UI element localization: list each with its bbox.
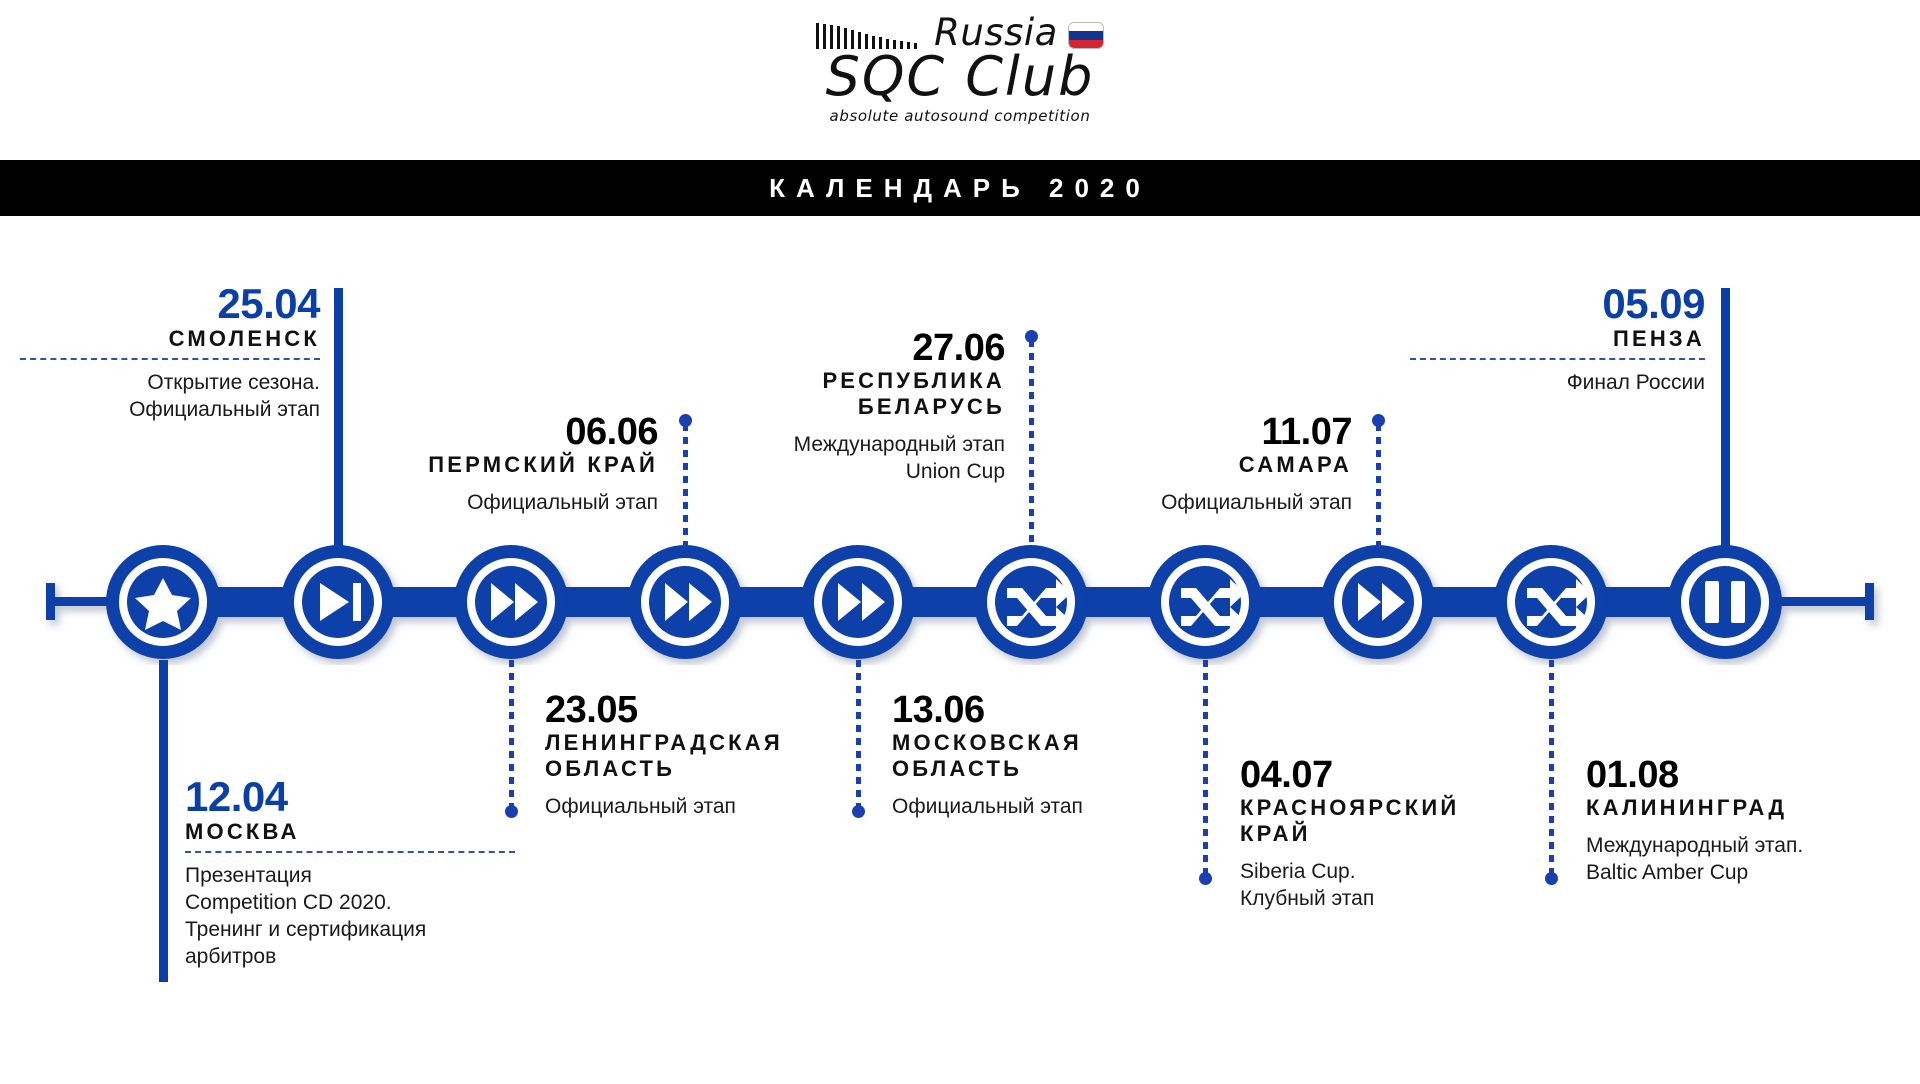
entry-desc-line: Официальный этап	[545, 793, 875, 820]
entry-krasnoyarsk: 04.07 КРАСНОЯРСКИЙ КРАЙ Siberia Cup. Клу…	[1240, 755, 1570, 912]
entry-desc-line: Официальный этап	[20, 396, 320, 423]
entry-city: ОБЛАСТЬ	[892, 756, 1222, 782]
entry-date: 05.09	[1410, 282, 1705, 326]
dotline-mosobl	[856, 660, 861, 808]
entry-date: 13.06	[892, 690, 1222, 730]
entry-city: МОСКВА	[185, 819, 515, 845]
entry-desc-line: Competition CD 2020.	[185, 889, 515, 916]
entry-date: 12.04	[185, 775, 515, 819]
entry-belarus: 27.06 РЕСПУБЛИКА БЕЛАРУСЬ Международный …	[720, 328, 1005, 485]
dotline-perm	[683, 424, 688, 550]
banner-title: КАЛЕНДАРЬ 2020	[769, 173, 1151, 204]
entry-mosobl: 13.06 МОСКОВСКАЯ ОБЛАСТЬ Официальный эта…	[892, 690, 1222, 820]
dotline-krasnoyarsk	[1203, 660, 1208, 875]
calendar-banner: КАЛЕНДАРЬ 2020	[0, 160, 1920, 216]
entry-desc-line: Официальный этап	[380, 489, 658, 516]
entry-date: 23.05	[545, 690, 875, 730]
stem-smolensk	[334, 288, 343, 550]
entry-desc-line: Baltic Amber Cup	[1586, 859, 1916, 886]
brand-logo: Russia SQC Club absolute autosound compe…	[0, 14, 1920, 125]
stem-moscow	[159, 660, 168, 982]
entry-desc-line: Union Cup	[720, 458, 1005, 485]
entry-city: САМАРА	[1070, 452, 1352, 478]
russia-flag-icon	[1068, 22, 1104, 49]
entry-date: 04.07	[1240, 755, 1570, 795]
entry-desc-line: Международный этап	[720, 431, 1005, 458]
dotline-belarus	[1029, 340, 1034, 550]
entry-city: БЕЛАРУСЬ	[720, 394, 1005, 420]
divider	[1410, 358, 1705, 360]
entry-city: КРАСНОЯРСКИЙ	[1240, 795, 1570, 821]
timeline-chain	[0, 545, 1920, 665]
entry-city: ПЕРМСКИЙ КРАЙ	[380, 452, 658, 478]
entry-desc-line: Клубный этап	[1240, 885, 1570, 912]
entry-desc-line: Siberia Cup.	[1240, 858, 1570, 885]
entry-perm: 06.06 ПЕРМСКИЙ КРАЙ Официальный этап	[380, 412, 658, 516]
entry-city: СМОЛЕНСК	[20, 326, 320, 352]
entry-city: ПЕНЗА	[1410, 326, 1705, 352]
stem-penza	[1721, 288, 1730, 550]
entry-penza: 05.09 ПЕНЗА Финал России	[1410, 282, 1705, 396]
entry-desc-line: арбитров	[185, 943, 515, 970]
entry-date: 01.08	[1586, 755, 1916, 795]
dotline-kaliningrad	[1549, 660, 1554, 875]
entry-moscow: 12.04 МОСКВА Презентация Competition CD …	[185, 775, 515, 970]
logo-sqc-club-text: SQC Club	[0, 49, 1920, 106]
entry-desc-line: Официальный этап	[1070, 489, 1352, 516]
dotline-samara	[1376, 424, 1381, 550]
entry-desc-line: Финал России	[1410, 369, 1705, 396]
entry-date: 06.06	[380, 412, 658, 452]
entry-city: РЕСПУБЛИКА	[720, 368, 1005, 394]
connector-dot-kaliningrad	[1545, 872, 1558, 885]
divider	[185, 851, 515, 853]
divider	[20, 358, 320, 360]
entry-desc-line: Презентация	[185, 862, 515, 889]
dotline-leningrad	[509, 660, 514, 808]
entry-city: КРАЙ	[1240, 821, 1570, 847]
entry-date: 25.04	[20, 282, 320, 326]
connector-dot-krasnoyarsk	[1199, 872, 1212, 885]
entry-desc-line: Тренинг и сертификация	[185, 916, 515, 943]
entry-leningrad: 23.05 ЛЕНИНГРАДСКАЯ ОБЛАСТЬ Официальный …	[545, 690, 875, 820]
entry-city: КАЛИНИНГРАД	[1586, 795, 1916, 821]
connector-dot-leningrad	[505, 805, 518, 818]
entry-kaliningrad: 01.08 КАЛИНИНГРАД Международный этап. Ba…	[1586, 755, 1916, 886]
logo-tagline: absolute autosound competition	[0, 107, 1920, 125]
connector-dot-mosobl	[852, 805, 865, 818]
entry-city: ЛЕНИНГРАДСКАЯ	[545, 730, 875, 756]
entry-date: 27.06	[720, 328, 1005, 368]
equalizer-bars-icon	[816, 23, 924, 49]
entry-smolensk: 25.04 СМОЛЕНСК Открытие сезона. Официаль…	[20, 282, 320, 423]
entry-date: 11.07	[1070, 412, 1352, 452]
entry-desc-line: Официальный этап	[892, 793, 1222, 820]
entry-city: МОСКОВСКАЯ	[892, 730, 1222, 756]
entry-city: ОБЛАСТЬ	[545, 756, 875, 782]
entry-desc-line: Международный этап.	[1586, 832, 1916, 859]
entry-samara: 11.07 САМАРА Официальный этап	[1070, 412, 1352, 516]
entry-desc-line: Открытие сезона.	[20, 369, 320, 396]
